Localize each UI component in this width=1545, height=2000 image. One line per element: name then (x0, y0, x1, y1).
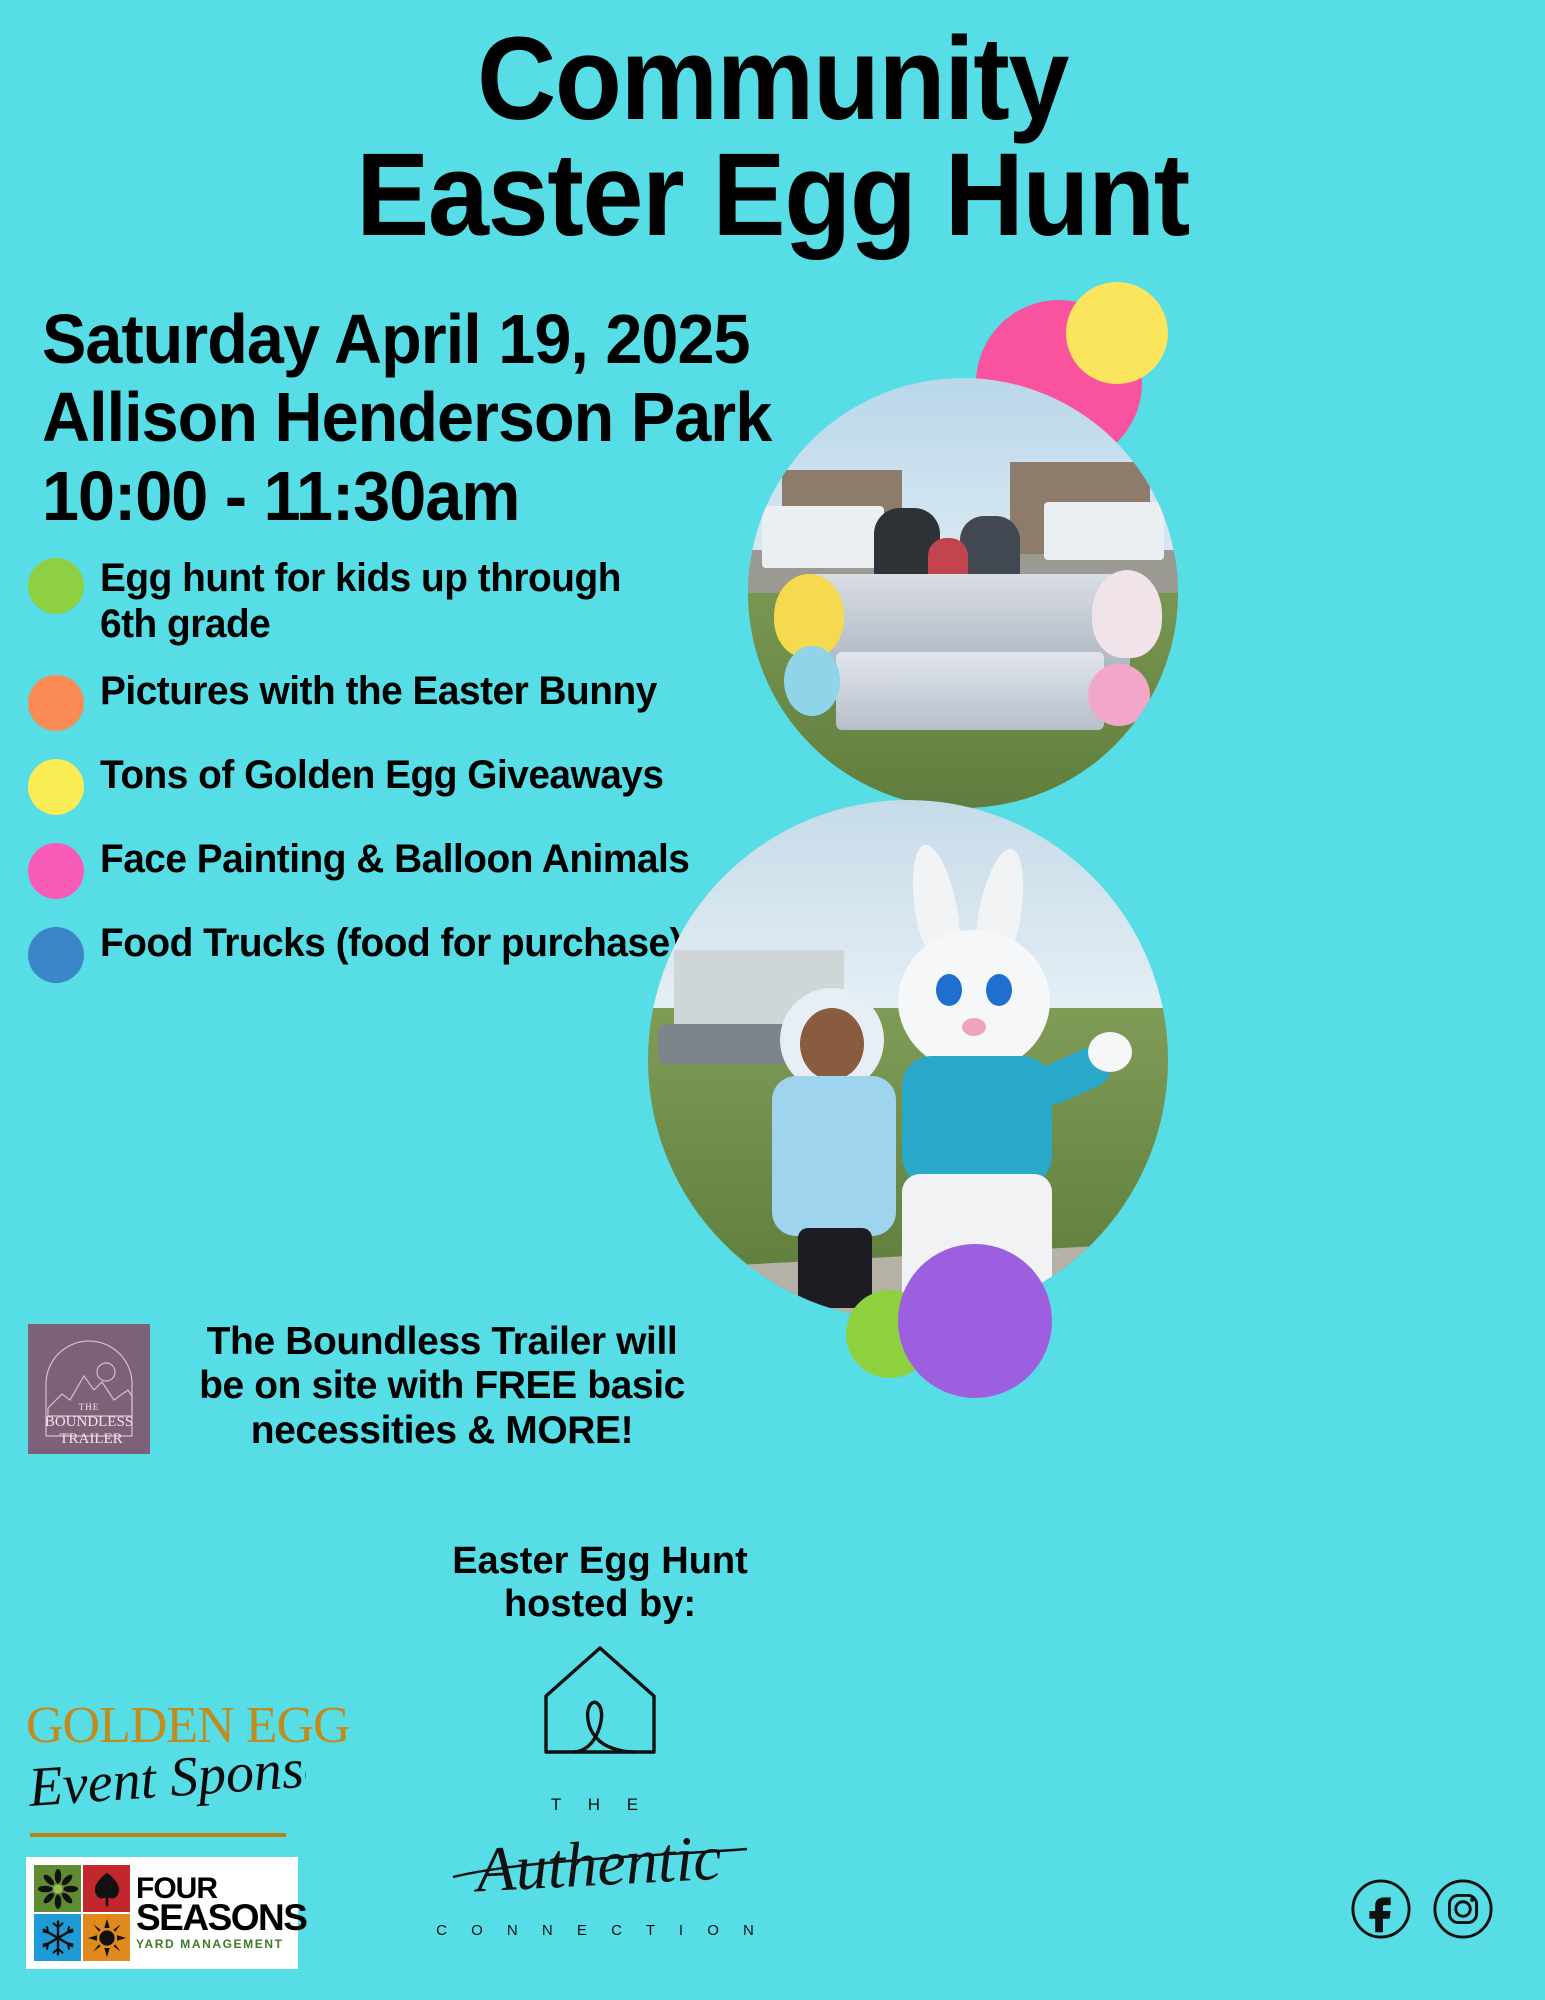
svg-text:Event Sponsor's: Event Sponsor's (26, 1746, 306, 1819)
boundless-line-3: necessities & MORE! (251, 1409, 634, 1452)
bunny-eye-left (936, 974, 962, 1006)
four-seasons-tagline: YARD MANAGEMENT (136, 1937, 306, 1951)
boundless-trailer-block: THE BOUNDLESS TRAILER The Boundless Trai… (28, 1320, 728, 1454)
photo-egg-cutout (784, 646, 840, 716)
boundless-line-1: The Boundless Trailer will (207, 1320, 678, 1363)
list-item: Food Trucks (food for purchase) (28, 921, 748, 983)
bunny-glove (1088, 1032, 1132, 1072)
list-item-label: Egg hunt for kids up through 6th grade (100, 556, 643, 647)
snowflake-icon (34, 1914, 81, 1961)
svg-text:TRAILER: TRAILER (59, 1431, 122, 1447)
bullet-dot-icon (28, 759, 84, 815)
boundless-line-2: be on site with FREE basic (199, 1364, 685, 1407)
bullet-dot-icon (28, 675, 84, 731)
four-seasons-logo: FOUR SEASONS YARD MANAGEMENT (26, 1857, 298, 1969)
flyer-canvas: Community Easter Egg Hunt Saturday April… (0, 0, 1545, 2000)
authentic-the-label: T H E (420, 1795, 780, 1815)
photo-easter-sign (836, 652, 1104, 730)
photo-van-left (762, 506, 884, 568)
photo-van-right (1044, 502, 1164, 560)
title-line-2: Easter Egg Hunt (54, 138, 1491, 254)
bullet-dot-icon (28, 558, 84, 614)
list-item-label: Tons of Golden Egg Giveaways (100, 753, 663, 799)
photo-child (744, 988, 904, 1308)
list-item: Face Painting & Balloon Animals (28, 837, 748, 899)
bullet-dot-icon (28, 843, 84, 899)
boundless-trailer-logo: THE BOUNDLESS TRAILER (28, 1324, 150, 1454)
list-item-label: Face Painting & Balloon Animals (100, 837, 689, 883)
list-item: Pictures with the Easter Bunny (28, 669, 748, 731)
hosted-line-1: Easter Egg Hunt (452, 1540, 748, 1582)
event-location: Allison Henderson Park (42, 378, 840, 456)
photo-flower-cutout (1088, 664, 1150, 726)
hosted-by-label: Easter Egg Hunt hosted by: (360, 1540, 840, 1627)
child-coat (772, 1076, 896, 1236)
bunny-body (902, 1056, 1052, 1186)
feature-list: Egg hunt for kids up through 6th grade P… (28, 556, 748, 1001)
list-item: Tons of Golden Egg Giveaways (28, 753, 748, 815)
instagram-icon[interactable] (1432, 1878, 1494, 1940)
bunny-eye-right (986, 974, 1012, 1006)
bullet-dot-icon (28, 927, 84, 983)
four-seasons-wordmark: FOUR SEASONS YARD MANAGEMENT (130, 1857, 306, 1969)
list-item: Egg hunt for kids up through 6th grade (28, 556, 748, 647)
yellow-circle-decor (1066, 282, 1168, 384)
flower-icon (34, 1865, 81, 1912)
child-pants (798, 1228, 872, 1308)
boundless-trailer-text: The Boundless Trailer will be on site wi… (172, 1320, 712, 1453)
event-time: 10:00 - 11:30am (42, 457, 840, 535)
event-sponsors-block: GOLDEN EGG Event Sponsor's (26, 1700, 326, 1969)
svg-text:BOUNDLESS: BOUNDLESS (45, 1414, 133, 1430)
sun-icon (83, 1914, 130, 1961)
child-face (800, 1008, 864, 1080)
four-seasons-seasons: SEASONS (136, 1902, 306, 1935)
title-line-1: Community (54, 22, 1491, 138)
event-sponsors-script: Event Sponsor's (26, 1746, 306, 1832)
page-title: Community Easter Egg Hunt (0, 22, 1545, 253)
event-date: Saturday April 19, 2025 (42, 300, 840, 378)
sponsors-divider (30, 1833, 286, 1837)
list-item-label: Food Trucks (food for purchase) (100, 921, 682, 967)
photo-bunny-cutout (1092, 570, 1162, 658)
authentic-connection-logo: T H E Authentic C O N N E C T I O N (420, 1640, 780, 1939)
bunny-nose (962, 1018, 986, 1036)
easter-bunny-child-photo (648, 800, 1168, 1320)
four-seasons-tiles (34, 1865, 130, 1961)
list-item-label: Pictures with the Easter Bunny (100, 669, 657, 715)
bunny-head (898, 930, 1050, 1072)
authentic-connection-label: C O N N E C T I O N (420, 1922, 780, 1939)
authentic-script-wordmark: Authentic (435, 1819, 765, 1915)
house-outline-icon (534, 1640, 666, 1768)
purple-circle-decor (898, 1244, 1052, 1398)
facebook-icon[interactable] (1350, 1878, 1412, 1940)
hosted-line-2: hosted by: (504, 1583, 696, 1625)
golden-egg-label: GOLDEN EGG (26, 1700, 326, 1752)
svg-text:THE: THE (79, 1402, 100, 1412)
hoppy-easter-sign-photo (748, 378, 1178, 808)
svg-text:Authentic: Authentic (471, 1822, 724, 1906)
social-links (1350, 1878, 1494, 1940)
leaf-icon (83, 1865, 130, 1912)
